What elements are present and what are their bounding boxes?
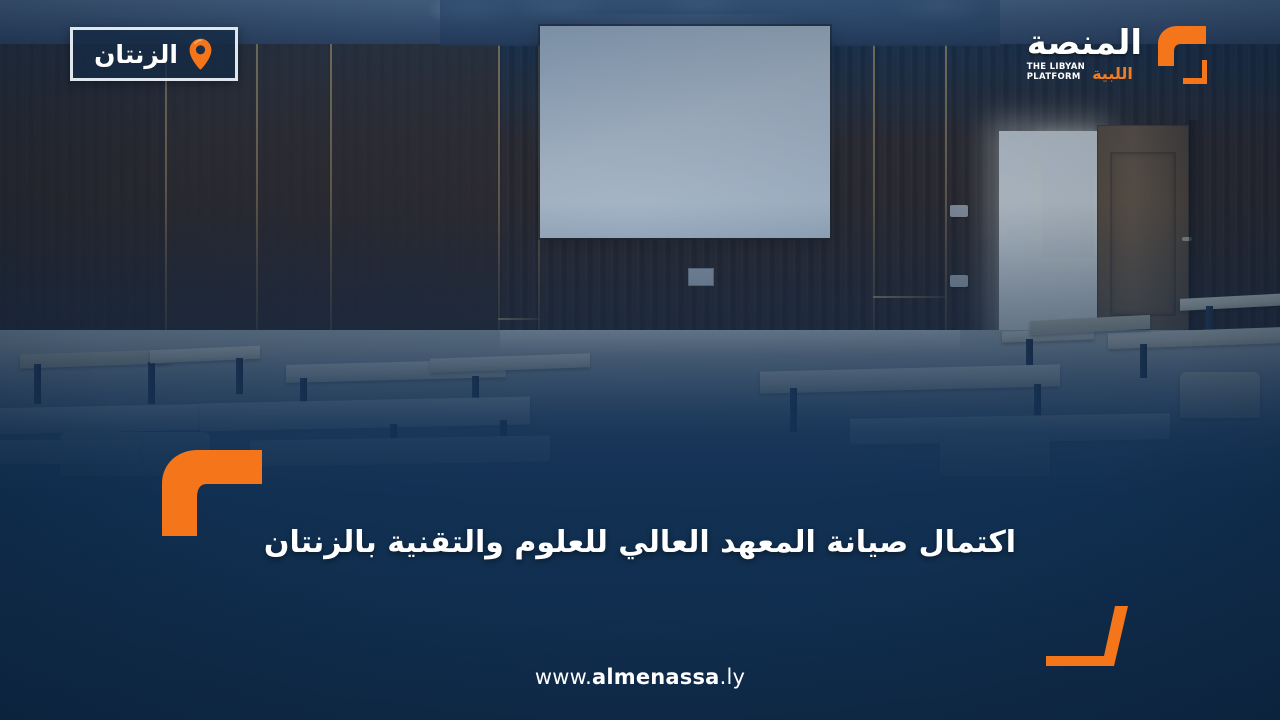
- url-main: almenassa: [592, 665, 720, 689]
- brand-name-en: THE LIBYAN PLATFORM: [1027, 63, 1085, 82]
- map-pin-icon: [188, 38, 214, 70]
- news-card: الزنتان المنصة اللبية THE LIBYAN PLATFOR…: [0, 0, 1280, 720]
- orange-bracket-logo-mark: [1150, 22, 1212, 86]
- location-label: الزنتان: [94, 42, 178, 67]
- brand-subline: اللبية THE LIBYAN PLATFORM: [1027, 63, 1133, 82]
- url-prefix: www.: [535, 665, 592, 689]
- footer-url[interactable]: www.almenassa.ly: [0, 665, 1280, 689]
- brand-qualifier-ar: اللبية: [1092, 66, 1133, 82]
- brand-logo[interactable]: المنصة اللبية THE LIBYAN PLATFORM: [1027, 18, 1212, 90]
- orange-angle-mark: [1046, 604, 1128, 666]
- location-badge[interactable]: الزنتان: [70, 27, 238, 81]
- brand-name-ar: المنصة: [1027, 26, 1142, 60]
- headline: اكتمال صيانة المعهد العالي للعلوم والتقن…: [0, 524, 1280, 562]
- url-suffix: .ly: [720, 665, 746, 689]
- brand-wordmark: المنصة اللبية THE LIBYAN PLATFORM: [1027, 26, 1142, 82]
